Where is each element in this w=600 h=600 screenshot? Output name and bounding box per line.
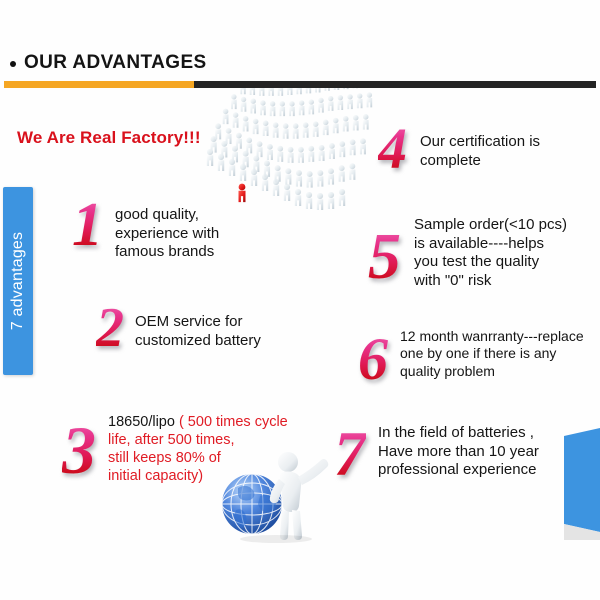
advantage-number-1: 1 — [72, 194, 103, 256]
advantage-4-line-1: Our certification is — [420, 133, 575, 152]
advantage-2-line-2: customized battery — [135, 332, 300, 351]
advantage-7-line-3: professional experience — [378, 461, 568, 480]
advantage-number-6: 6 — [358, 329, 388, 389]
person-with-globe-illustration — [212, 438, 338, 546]
page-title: OUR ADVANTAGES — [24, 52, 207, 74]
advantage-1-line-3: famous brands — [115, 243, 275, 262]
advantage-2-line-1: OEM service for — [135, 313, 300, 332]
advantage-item-4: 4 Our certification is complete — [378, 120, 575, 178]
slide-canvas: OUR ADVANTAGES We Are Real Factory!!! 7 … — [0, 0, 600, 600]
advantage-text-6: 12 month wanrranty---replace one by one … — [400, 325, 590, 380]
advantage-item-7: 7 In the field of batteries , Have more … — [334, 420, 568, 486]
advantage-6-line-3: quality problem — [400, 363, 590, 380]
advantage-1-line-2: experience with — [115, 225, 275, 244]
advantage-3-line-1-red: ( 500 times cycle — [179, 414, 288, 430]
advantage-text-7: In the field of batteries , Have more th… — [378, 420, 568, 480]
advantage-item-5: 5 Sample order(<10 pcs) is available----… — [368, 216, 584, 290]
advantage-1-line-1: good quality, — [115, 206, 275, 225]
advantage-7-line-1: In the field of batteries , — [378, 424, 568, 443]
advantage-item-1: 1 good quality, experience with famous b… — [72, 192, 275, 262]
advantage-3-lead: 18650/lipo — [108, 414, 175, 430]
advantage-number-4: 4 — [378, 120, 407, 178]
advantage-number-3: 3 — [62, 416, 96, 484]
slide-header: OUR ADVANTAGES — [0, 52, 600, 86]
factory-slogan: We Are Real Factory!!! — [17, 128, 201, 148]
side-tab-label: 7 advantages — [9, 232, 27, 330]
advantage-5-line-3: you test the quality — [414, 253, 584, 272]
advantage-item-6: 6 12 month wanrranty---replace one by on… — [358, 325, 590, 389]
advantage-item-2: 2 OEM service for customized battery — [96, 300, 300, 356]
advantage-6-line-1: 12 month wanrranty---replace — [400, 328, 590, 345]
divider-orange-segment — [4, 81, 194, 88]
advantage-7-line-2: Have more than 10 year — [378, 443, 568, 462]
advantage-5-line-2: is available----helps — [414, 235, 584, 254]
bullet-dot-icon — [10, 61, 16, 67]
side-tab-advantages: 7 advantages — [3, 187, 33, 375]
header-title-row: OUR ADVANTAGES — [10, 52, 207, 74]
advantage-text-4: Our certification is complete — [420, 120, 575, 170]
header-divider — [4, 81, 596, 88]
advantage-number-5: 5 — [368, 224, 401, 290]
advantage-number-7: 7 — [334, 422, 366, 486]
advantage-text-2: OEM service for customized battery — [135, 300, 300, 350]
advantage-6-line-2: one by one if there is any — [400, 345, 590, 362]
advantage-3-line-1: 18650/lipo ( 500 times cycle — [108, 414, 293, 432]
advantage-5-line-4: with "0" risk — [414, 272, 584, 291]
advantage-4-line-2: complete — [420, 152, 575, 171]
advantage-text-1: good quality, experience with famous bra… — [115, 192, 275, 262]
blue-corner-accent — [556, 428, 600, 540]
divider-dark-segment — [194, 81, 596, 88]
advantage-5-line-1: Sample order(<10 pcs) — [414, 216, 584, 235]
advantage-number-2: 2 — [96, 300, 124, 356]
advantage-text-5: Sample order(<10 pcs) is available----he… — [414, 216, 584, 290]
